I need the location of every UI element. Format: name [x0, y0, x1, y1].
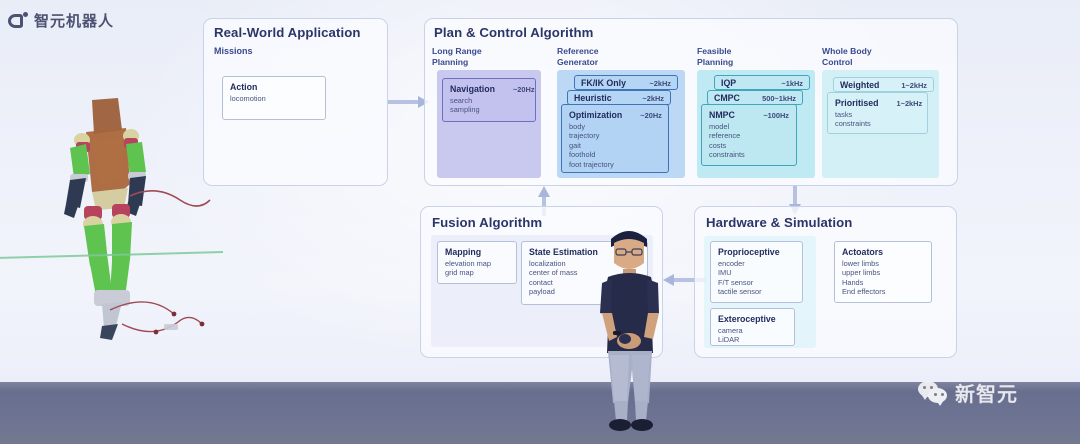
card-nmpc[interactable]: NMPC ~100Hz model reference costs constr… [701, 104, 797, 166]
card-navigation-hz: ~20Hz [503, 85, 535, 94]
wechat-icon [918, 381, 948, 405]
card-navigation[interactable]: Navigation ~20Hz search sampling [442, 78, 536, 122]
card-prioritised-name: Prioritised [835, 98, 879, 108]
card-weighted[interactable]: Weighted 1~2kHz [833, 77, 934, 92]
card-cmpc-name: CMPC [714, 93, 740, 103]
card-mapping-name: Mapping [445, 247, 481, 257]
card-actoators-items: lower limbs upper limbs Hands End effect… [842, 259, 924, 297]
card-exteroceptive[interactable]: Exteroceptive camera LiDAR [710, 308, 795, 346]
card-cmpc[interactable]: CMPC 500~1kHz [707, 90, 803, 105]
column-title-reference-generator: Reference Generator [557, 46, 599, 67]
panel-title-plan-control: Plan & Control Algorithm [434, 25, 593, 40]
card-heuristic[interactable]: Heuristic ~2kHz [567, 90, 671, 105]
card-prioritised[interactable]: Prioritised 1~2kHz tasks constraints [827, 92, 928, 134]
card-nmpc-name: NMPC [709, 110, 735, 120]
watermark-text: 新智元 [955, 378, 1018, 407]
card-prioritised-hz: 1~2kHz [887, 99, 923, 108]
card-optimization-name: Optimization [569, 110, 622, 120]
card-heuristic-hz: ~2kHz [632, 94, 664, 103]
card-fk-ik-only[interactable]: FK/IK Only ~2kHz [574, 75, 678, 90]
column-title-feasible-planning: Feasible Planning [697, 46, 733, 67]
humanoid-robot-simulation [52, 96, 212, 341]
column-title-long-range-planning: Long Range Planning [432, 46, 482, 67]
card-proprioceptive-items: encoder IMU F/T sensor tactile sensor [718, 259, 795, 297]
card-iqp-hz: ~1kHz [771, 79, 803, 88]
card-weighted-hz: 1~2kHz [891, 81, 927, 90]
card-exteroceptive-name: Exteroceptive [718, 314, 776, 324]
card-weighted-name: Weighted [840, 80, 879, 90]
card-fk-ik-only-hz: ~2kHz [639, 79, 671, 88]
card-nmpc-items: model reference costs constraints [709, 122, 789, 160]
column-title-whole-body-control: Whole Body Control [822, 46, 872, 67]
card-cmpc-hz: 500~1kHz [752, 94, 796, 103]
card-fk-ik-only-name: FK/IK Only [581, 78, 626, 88]
label-missions: Missions [214, 46, 253, 57]
wechat-watermark: 新智元 [918, 378, 1018, 407]
card-heuristic-name: Heuristic [574, 93, 612, 103]
panel-title-fusion-algorithm: Fusion Algorithm [432, 215, 542, 230]
presenter-svg [583, 225, 675, 435]
card-nmpc-hz: ~100Hz [753, 111, 789, 120]
card-optimization[interactable]: Optimization ~20Hz body trajectory gait … [561, 104, 669, 173]
robot-svg [52, 96, 212, 341]
panel-title-hardware-simulation: Hardware & Simulation [706, 215, 852, 230]
screenshot-root: 智元机器人 Real-World Application Missions Ac… [0, 0, 1080, 444]
card-navigation-items: search sampling [450, 96, 528, 115]
card-mapping-items: elevation map grid map [445, 259, 509, 278]
card-actoators[interactable]: Actoators lower limbs upper limbs Hands … [834, 241, 932, 303]
card-proprioceptive-name: Proprioceptive [718, 247, 780, 257]
card-action[interactable]: Action locomotion [222, 76, 326, 120]
card-iqp-name: IQP [721, 78, 736, 88]
card-optimization-items: body trajectory gait foothold foot traje… [569, 122, 661, 169]
card-action-items: locomotion [230, 94, 318, 103]
card-prioritised-items: tasks constraints [835, 110, 920, 129]
card-navigation-name: Navigation [450, 84, 495, 94]
card-iqp[interactable]: IQP ~1kHz [714, 75, 810, 90]
card-proprioceptive[interactable]: Proprioceptive encoder IMU F/T sensor ta… [710, 241, 803, 303]
card-action-name: Action [230, 82, 257, 92]
card-actoators-name: Actoators [842, 247, 883, 257]
card-mapping[interactable]: Mapping elevation map grid map [437, 241, 517, 284]
card-optimization-hz: ~20Hz [630, 111, 662, 120]
presenter-on-stage [583, 225, 675, 435]
card-exteroceptive-items: camera LiDAR [718, 326, 787, 345]
panel-title-real-world: Real-World Application [214, 25, 361, 40]
